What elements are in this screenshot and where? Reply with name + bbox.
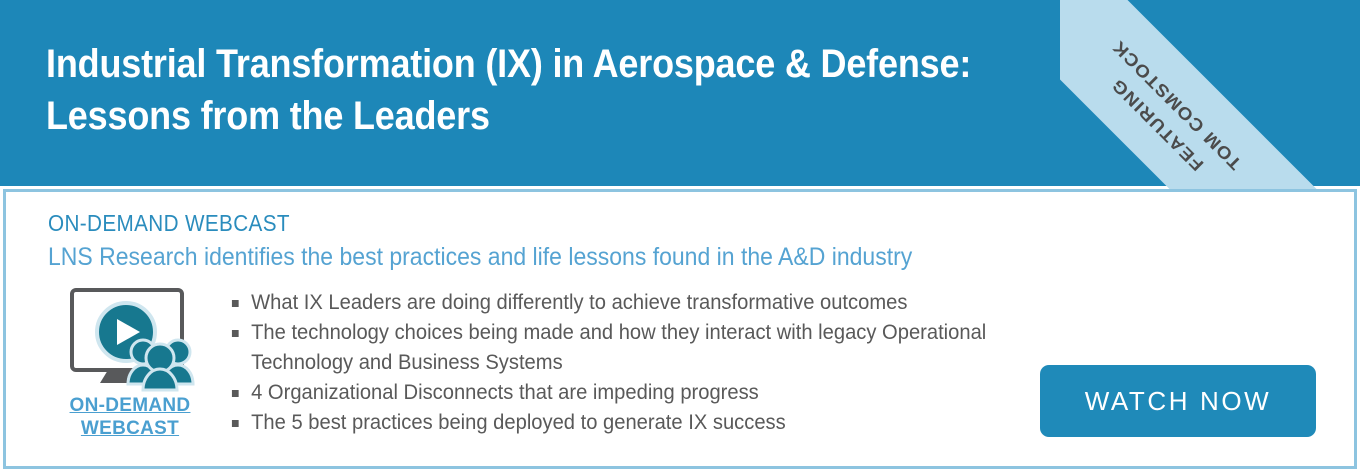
on-demand-webcast-link[interactable]: ON-DEMAND WEBCAST xyxy=(70,394,191,440)
list-item-label: What IX Leaders are doing differently to… xyxy=(251,291,907,314)
square-bullet-icon xyxy=(232,330,239,337)
square-bullet-icon xyxy=(232,390,239,397)
webcast-link-line-1: ON-DEMAND xyxy=(70,394,191,417)
benefits-list: What IX Leaders are doing differently to… xyxy=(230,288,1040,438)
page-title-line-1: Industrial Transformation (IX) in Aerosp… xyxy=(46,38,1000,90)
list-item-label: 4 Organizational Disconnects that are im… xyxy=(251,381,759,404)
list-item: What IX Leaders are doing differently to… xyxy=(230,288,1008,318)
watch-now-button[interactable]: WATCH NOW xyxy=(1040,365,1316,437)
list-item-label: The technology choices being made and ho… xyxy=(251,321,986,374)
page-title-line-2: Lessons from the Leaders xyxy=(46,90,1000,142)
list-item: The 5 best practices being deployed to g… xyxy=(230,408,1008,438)
eyebrow-label: ON-DEMAND WEBCAST xyxy=(48,210,290,237)
list-item: The technology choices being made and ho… xyxy=(230,318,1008,378)
page-title: Industrial Transformation (IX) in Aerosp… xyxy=(46,38,1000,142)
subheadline: LNS Research identifies the best practic… xyxy=(48,243,912,272)
on-demand-webcast-link-block[interactable]: ON-DEMAND WEBCAST xyxy=(50,284,210,440)
list-item: 4 Organizational Disconnects that are im… xyxy=(230,378,1008,408)
webcast-link-line-2: WEBCAST xyxy=(70,417,191,440)
list-item-label: The 5 best practices being deployed to g… xyxy=(251,411,786,434)
square-bullet-icon xyxy=(232,420,239,427)
banner-body: ON-DEMAND WEBCAST LNS Research identifie… xyxy=(3,189,1357,469)
webcast-monitor-icon xyxy=(50,284,210,392)
square-bullet-icon xyxy=(232,300,239,307)
banner-header: Industrial Transformation (IX) in Aerosp… xyxy=(0,0,1360,186)
webcast-promo-banner: Industrial Transformation (IX) in Aerosp… xyxy=(0,0,1360,472)
